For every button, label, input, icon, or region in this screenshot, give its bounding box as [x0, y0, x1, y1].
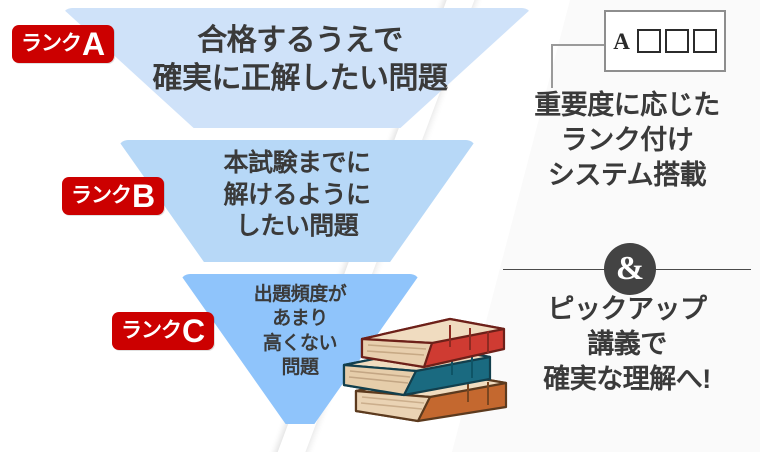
infographic-root: 合格するうえで 確実に正解したい問題 本試験までに 解けるように したい問題 出…: [0, 0, 760, 452]
rank-badge-a-prefix: ランク: [21, 33, 81, 54]
right-subline-line-2: 講義で: [494, 327, 760, 362]
right-headline-line-1: 重要度に応じた: [494, 88, 760, 123]
rank-b-line-1: 本試験までに: [172, 148, 422, 180]
right-subline: ピックアップ 講義で 確実な理解へ!: [494, 292, 760, 397]
rank-label-icon: A: [604, 10, 726, 72]
ampersand-badge: &: [604, 243, 656, 295]
rank-badge-c-prefix: ランク: [121, 320, 181, 341]
rank-badge-b: ランク B: [62, 177, 164, 215]
rank-a-description: 合格するうえで 確実に正解したい問題: [140, 22, 460, 99]
rank-badge-c: ランク C: [112, 312, 214, 350]
rank-badge-b-prefix: ランク: [71, 185, 131, 206]
empty-box-icon-1: [637, 29, 661, 53]
right-subline-line-3: 確実な理解へ!: [494, 362, 760, 397]
leader-line: [551, 44, 609, 88]
empty-box-icon-2: [665, 29, 689, 53]
rank-badge-b-letter: B: [132, 180, 155, 212]
rank-badge-a: ランク A: [12, 25, 114, 63]
rank-badge-a-letter: A: [82, 28, 105, 60]
empty-box-icon-3: [693, 29, 717, 53]
right-headline-line-3: システム搭載: [494, 158, 760, 193]
right-headline-line-2: ランク付け: [494, 123, 760, 158]
rank-b-description: 本試験までに 解けるように したい問題: [172, 148, 422, 243]
rank-letter-icon: A: [613, 30, 630, 53]
rank-b-line-3: したい問題: [172, 211, 422, 243]
rank-b-line-2: 解けるように: [172, 180, 422, 212]
rank-a-line-2: 確実に正解したい問題: [140, 60, 460, 98]
rank-badge-c-letter: C: [182, 315, 205, 347]
rank-a-line-1: 合格するうえで: [140, 22, 460, 60]
right-subline-line-1: ピックアップ: [494, 292, 760, 327]
right-headline: 重要度に応じた ランク付け システム搭載: [494, 88, 760, 193]
